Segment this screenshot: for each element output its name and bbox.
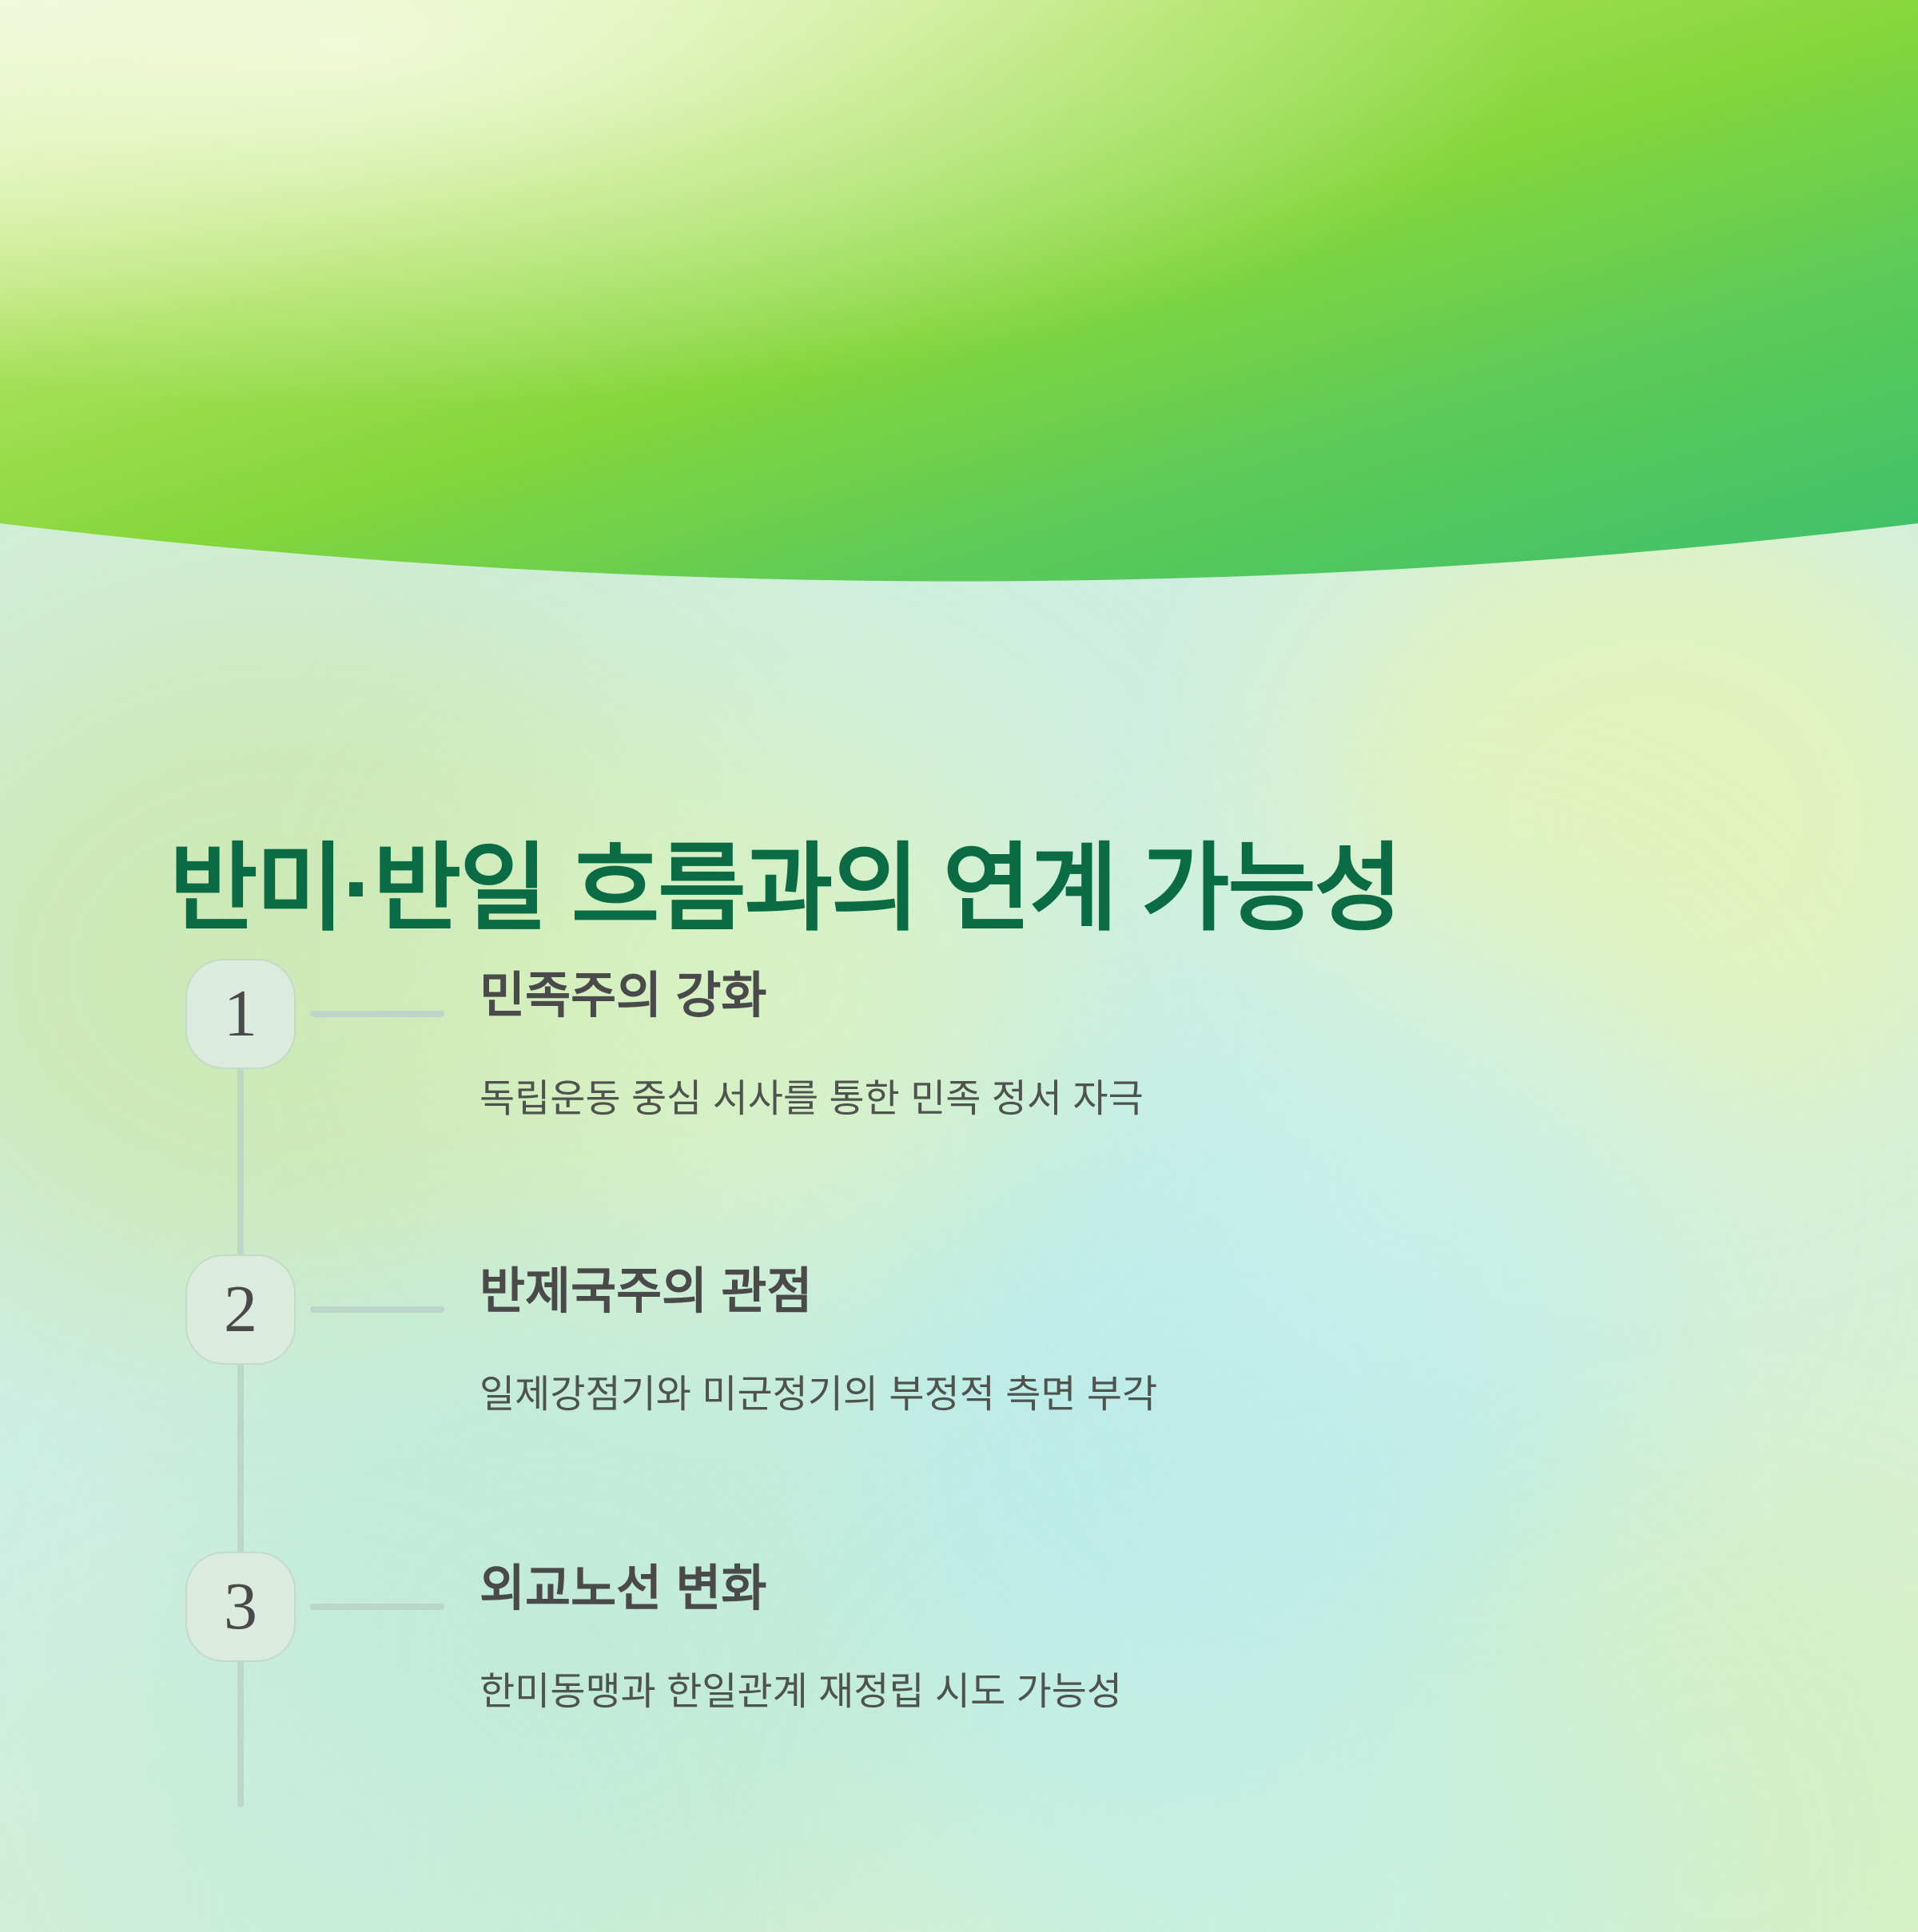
timeline-item-2[interactable]: 2 반제국주의 관점 일제강점기와 미군정기의 부정적 측면 부각 bbox=[0, 1238, 1918, 1502]
timeline-item-3[interactable]: 3 외교노선 변화 한미동맹과 한일관계 재정립 시도 가능성 bbox=[0, 1536, 1918, 1799]
timeline-connector-2 bbox=[310, 1306, 444, 1313]
timeline-item-desc-2: 일제강점기와 미군정기의 부정적 측면 부각 bbox=[479, 1368, 1157, 1421]
timeline-connector-3 bbox=[310, 1604, 444, 1610]
timeline-number-badge-2: 2 bbox=[185, 1254, 296, 1365]
timeline-item-desc-3: 한미동맹과 한일관계 재정립 시도 가능성 bbox=[479, 1665, 1122, 1719]
timeline-number-badge-1: 1 bbox=[185, 959, 296, 1069]
timeline-item-desc-1: 독립운동 중심 서사를 통한 민족 정서 자극 bbox=[479, 1072, 1144, 1126]
content-area: 반미·반일 흐름과의 연계 가능성 1 민족주의 강화 독립운동 중심 서사를 … bbox=[0, 0, 1918, 1932]
timeline-item-title-2: 반제국주의 관점 bbox=[479, 1261, 813, 1323]
timeline-item-title-3: 외교노선 변화 bbox=[479, 1558, 766, 1620]
timeline-item-title-1: 민족주의 강화 bbox=[479, 965, 766, 1028]
timeline-number-1: 1 bbox=[224, 980, 257, 1047]
timeline-connector-1 bbox=[310, 1011, 444, 1017]
timeline-number-2: 2 bbox=[224, 1276, 257, 1343]
timeline-number-badge-3: 3 bbox=[185, 1552, 296, 1662]
timeline-item-1[interactable]: 1 민족주의 강화 독립운동 중심 서사를 통한 민족 정서 자극 bbox=[0, 943, 1918, 1207]
page-title: 반미·반일 흐름과의 연계 가능성 bbox=[169, 831, 1401, 946]
timeline-number-3: 3 bbox=[224, 1573, 257, 1640]
